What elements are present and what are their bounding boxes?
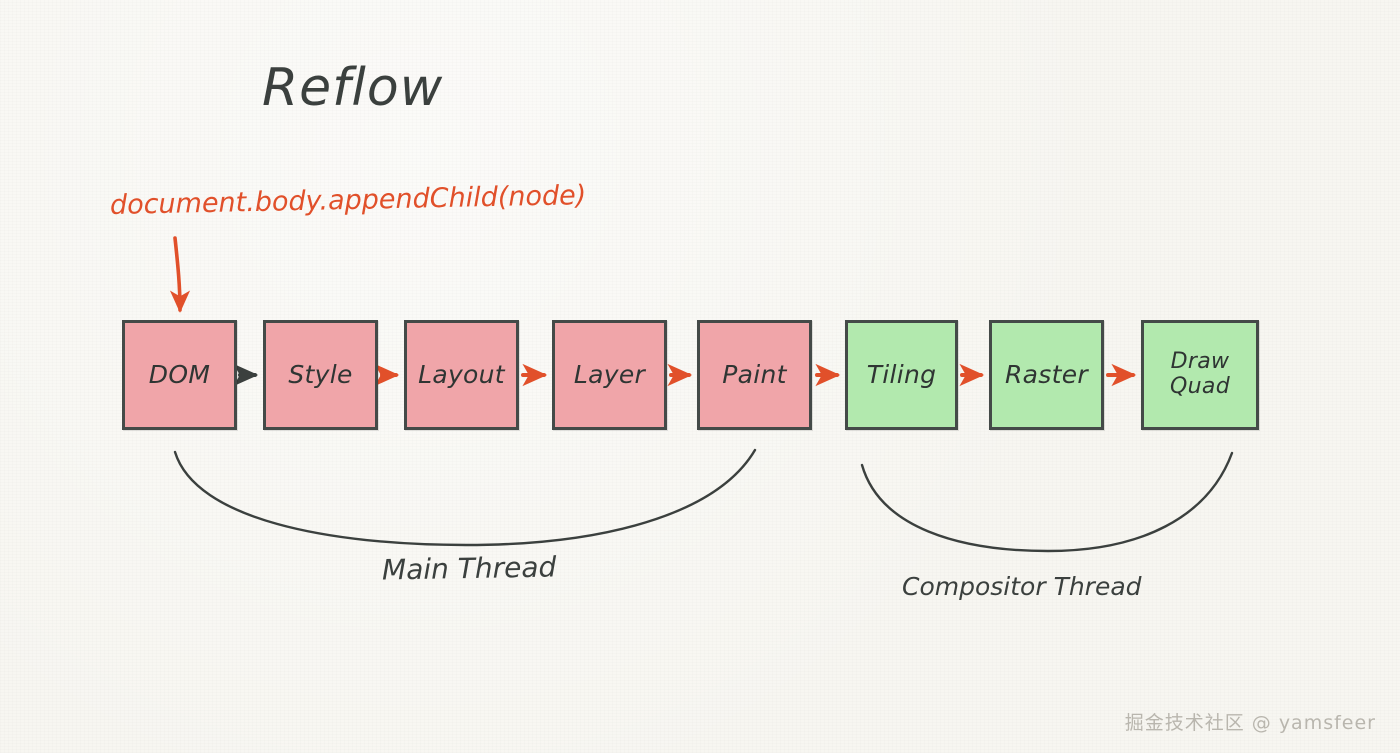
reflow-pipeline-diagram: Reflow document.body.appendChild(node) (0, 0, 1400, 753)
stage-box-layer[interactable]: Layer (552, 320, 667, 430)
stage-label-dom: DOM (149, 361, 210, 389)
stage-box-raster[interactable]: Raster (989, 320, 1104, 430)
stage-label-paint: Paint (722, 361, 787, 389)
stage-box-style[interactable]: Style (263, 320, 378, 430)
stage-box-layout[interactable]: Layout (404, 320, 519, 430)
thread-label-main: Main Thread (382, 550, 557, 586)
stage-box-draw-quad[interactable]: Draw Quad (1141, 320, 1259, 430)
stage-label-layout: Layout (418, 361, 505, 389)
stage-box-tiling[interactable]: Tiling (845, 320, 958, 430)
stage-label-draw-quad: Draw Quad (1170, 350, 1230, 399)
stage-box-dom[interactable]: DOM (122, 320, 237, 430)
stage-label-raster: Raster (1005, 361, 1088, 389)
stage-label-layer: Layer (574, 361, 645, 389)
stage-label-style: Style (288, 361, 352, 389)
thread-label-compositor: Compositor Thread (902, 572, 1142, 601)
pipeline-stage-row: DOM Style Layout Layer Paint Tiling Rast… (0, 0, 1400, 753)
watermark: 掘金技术社区 @ yamsfeer (1125, 708, 1376, 735)
stage-label-tiling: Tiling (867, 361, 937, 389)
stage-box-paint[interactable]: Paint (697, 320, 812, 430)
